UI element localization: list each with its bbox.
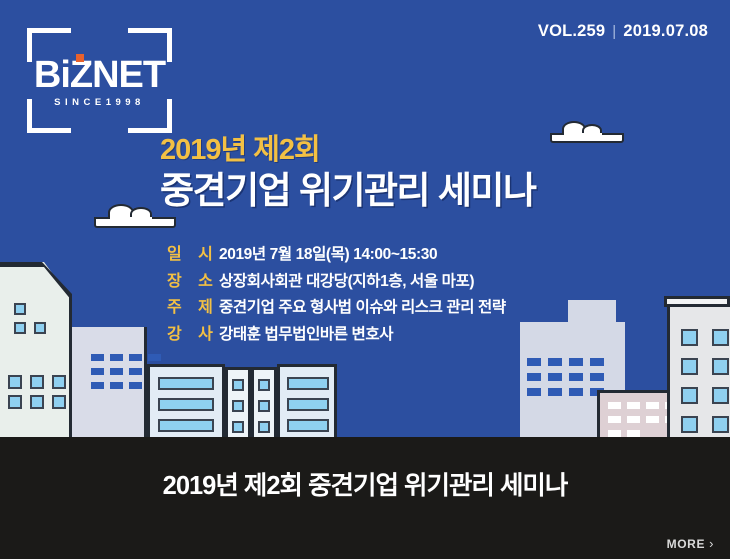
- window: [681, 416, 698, 433]
- window: [258, 400, 270, 412]
- info-label: 일 시: [167, 244, 219, 267]
- info-label: 주 제: [167, 297, 219, 320]
- window: [527, 373, 541, 381]
- more-label: MORE: [667, 537, 705, 551]
- newsletter-banner: BiZNET SINCE1998 VOL.259 | 2019.07.08 20…: [0, 0, 730, 559]
- window: [91, 354, 104, 361]
- window: [148, 354, 161, 361]
- more-link[interactable]: MORE ›: [667, 536, 714, 551]
- issue-date: 2019.07.08: [623, 22, 708, 41]
- logo-tagline: SINCE1998: [22, 97, 177, 108]
- footer-bar: 2019년 제2회 중견기업 위기관리 세미나 MORE ›: [0, 437, 730, 559]
- window: [52, 375, 66, 389]
- volume-date-header: VOL.259 | 2019.07.08: [538, 22, 708, 41]
- info-label: 장 소: [167, 271, 219, 294]
- headline: 2019년 제2회 중견기업 위기관리 세미나: [160, 134, 536, 214]
- footer-title: 2019년 제2회 중견기업 위기관리 세미나: [0, 465, 730, 502]
- window: [232, 379, 244, 391]
- window: [712, 416, 729, 433]
- cloud-icon-right: [548, 121, 626, 143]
- window: [287, 398, 329, 411]
- window: [627, 416, 640, 423]
- window: [258, 379, 270, 391]
- window: [527, 388, 541, 396]
- window: [527, 358, 541, 366]
- window: [110, 382, 123, 389]
- window: [30, 375, 44, 389]
- window: [712, 387, 729, 404]
- window: [232, 421, 244, 433]
- window: [110, 354, 123, 361]
- window: [14, 303, 26, 315]
- info-value: 중견기업 주요 형사법 이슈와 리스크 관리 전략: [219, 297, 506, 319]
- window: [681, 358, 698, 375]
- building-left-slanted: [0, 262, 72, 437]
- building-right-tall-cap: [664, 296, 730, 307]
- window: [258, 421, 270, 433]
- info-row: 강 사 강태훈 법무법인바른 변호사: [167, 324, 506, 347]
- headline-year: 2019년 제2회: [160, 134, 536, 167]
- window: [548, 388, 562, 396]
- window: [548, 373, 562, 381]
- window: [712, 358, 729, 375]
- window: [14, 322, 26, 334]
- chevron-right-icon: ›: [709, 536, 714, 551]
- window: [91, 382, 104, 389]
- info-value: 강태훈 법무법인바른 변호사: [219, 324, 393, 346]
- window: [34, 322, 46, 334]
- info-label: 강 사: [167, 324, 219, 347]
- window: [287, 419, 329, 432]
- window: [129, 382, 142, 389]
- window: [52, 395, 66, 409]
- event-info-list: 일 시 2019년 7월 18일(목) 14:00~15:30 장 소 상장회사…: [167, 244, 506, 351]
- window: [158, 377, 214, 390]
- window: [646, 416, 659, 423]
- window: [608, 416, 621, 423]
- window: [8, 375, 22, 389]
- window: [158, 419, 214, 432]
- volume-separator: |: [612, 23, 616, 40]
- window: [608, 430, 621, 437]
- window: [158, 398, 214, 411]
- window: [627, 402, 640, 409]
- window: [569, 358, 583, 366]
- window: [129, 368, 142, 375]
- info-value: 상장회사회관 대강당(지하1층, 서울 마포): [219, 271, 474, 293]
- info-row: 일 시 2019년 7월 18일(목) 14:00~15:30: [167, 244, 506, 267]
- logo-wordmark: BiZNET: [22, 56, 177, 94]
- window: [590, 373, 604, 381]
- window: [608, 402, 621, 409]
- window: [712, 329, 729, 346]
- window: [627, 430, 640, 437]
- sky-background: BiZNET SINCE1998 VOL.259 | 2019.07.08 20…: [0, 0, 730, 437]
- window: [129, 354, 142, 361]
- window: [681, 329, 698, 346]
- window: [91, 368, 104, 375]
- info-row: 주 제 중견기업 주요 형사법 이슈와 리스크 관리 전략: [167, 297, 506, 320]
- biznet-logo[interactable]: BiZNET SINCE1998: [27, 28, 172, 133]
- volume-number: VOL.259: [538, 22, 605, 41]
- window: [548, 358, 562, 366]
- info-value: 2019년 7월 18일(목) 14:00~15:30: [219, 244, 437, 266]
- window: [590, 358, 604, 366]
- info-row: 장 소 상장회사회관 대강당(지하1층, 서울 마포): [167, 271, 506, 294]
- logo-dot-icon: [76, 54, 84, 62]
- window: [232, 400, 244, 412]
- window: [569, 388, 583, 396]
- window: [110, 368, 123, 375]
- window: [287, 377, 329, 390]
- window: [8, 395, 22, 409]
- window: [30, 395, 44, 409]
- headline-title: 중견기업 위기관리 세미나: [160, 169, 536, 213]
- window: [681, 387, 698, 404]
- window: [646, 402, 659, 409]
- window: [569, 373, 583, 381]
